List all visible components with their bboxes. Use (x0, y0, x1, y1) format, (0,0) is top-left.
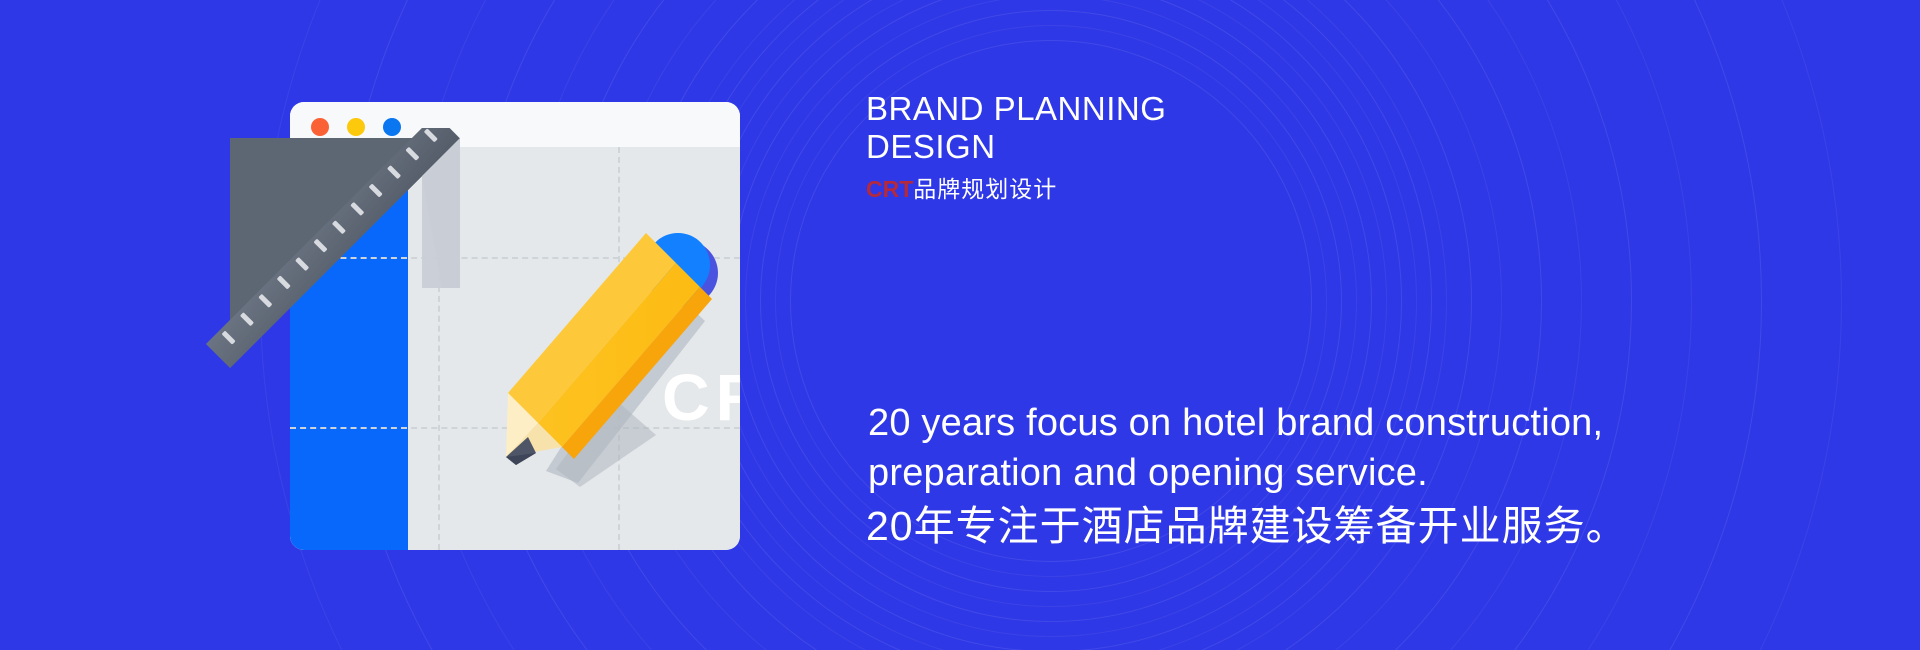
pencil-tool (460, 225, 750, 545)
heading-chinese-line: CRT品牌规划设计 (866, 175, 1057, 203)
text-column: BRAND PLANNING DESIGN CRT品牌规划设计 20 years… (866, 0, 1920, 650)
pencil-svg (460, 225, 750, 545)
tagline-chinese: 20年专注于酒店品牌建设筹备开业服务。 (866, 500, 1866, 552)
tagline-english: 20 years focus on hotel brand constructi… (868, 398, 1868, 498)
brand-banner: CRT (0, 0, 1920, 650)
brand-abbr: CRT (866, 176, 913, 202)
hero-illustration: CRT (0, 0, 860, 650)
heading-chinese: 品牌规划设计 (913, 176, 1057, 202)
heading-english: BRAND PLANNING DESIGN (866, 90, 1336, 166)
